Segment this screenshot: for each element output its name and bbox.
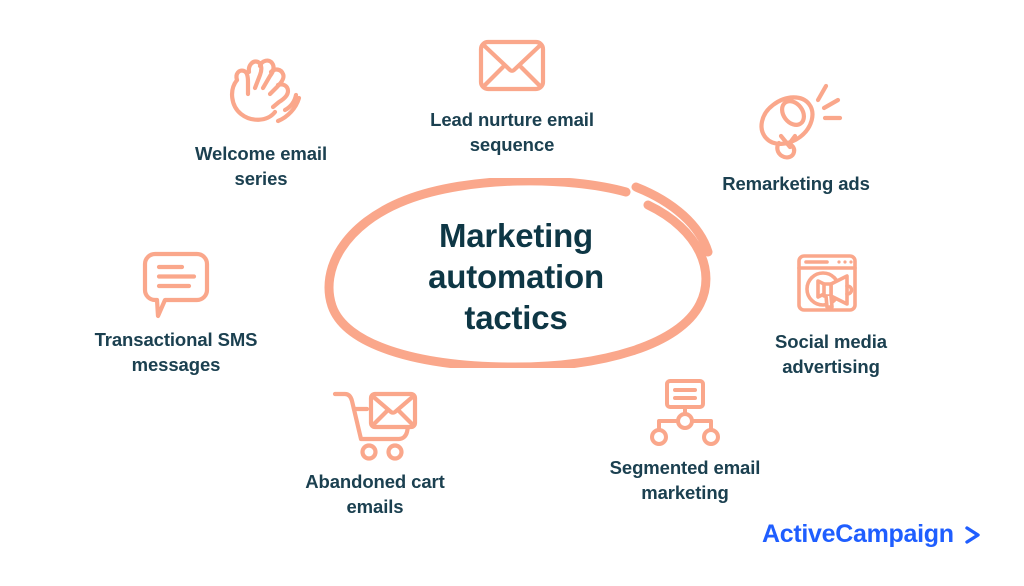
center-title-line-1: Marketing xyxy=(318,216,714,257)
node-social-label: Social media advertising xyxy=(775,330,887,380)
center-title: Marketing automation tactics xyxy=(318,216,714,339)
node-abandoned-cart-emails[interactable]: Abandoned cart emails xyxy=(272,382,478,520)
node-lead-nurture-email-sequence[interactable]: Lead nurture email sequence xyxy=(400,32,624,158)
node-social-media-advertising[interactable]: Social media advertising xyxy=(752,248,910,380)
node-sms-label: Transactional SMS messages xyxy=(95,328,258,378)
infographic-canvas: Marketing automation tactics xyxy=(0,0,1024,586)
node-welcome-email-series[interactable]: Welcome email series xyxy=(155,44,367,192)
node-transactional-sms-messages[interactable]: Transactional SMS messages xyxy=(78,248,274,378)
envelope-icon xyxy=(470,32,554,102)
node-lead-label: Lead nurture email sequence xyxy=(430,108,594,158)
node-remarketing-ads[interactable]: Remarketing ads xyxy=(700,74,892,197)
chevron-right-icon xyxy=(962,523,984,547)
chat-bubble-icon xyxy=(137,248,215,322)
browser-video-megaphone-icon xyxy=(791,248,871,324)
center-title-line-3: tactics xyxy=(318,298,714,339)
node-remarketing-label: Remarketing ads xyxy=(722,172,870,197)
center-title-line-2: automation xyxy=(318,257,714,298)
center-group: Marketing automation tactics xyxy=(318,178,714,368)
node-cart-label: Abandoned cart emails xyxy=(305,470,444,520)
node-segmented-email-marketing[interactable]: Segmented email marketing xyxy=(578,376,792,506)
cart-envelope-icon xyxy=(327,382,423,464)
activecampaign-logo[interactable]: ActiveCampaign xyxy=(762,522,984,547)
brand-name: ActiveCampaign xyxy=(762,522,954,547)
node-welcome-label: Welcome email series xyxy=(195,142,327,192)
segmentation-tree-icon xyxy=(643,376,727,450)
megaphone-icon xyxy=(748,74,844,166)
waving-hand-icon xyxy=(215,44,307,136)
node-segmented-label: Segmented email marketing xyxy=(610,456,761,506)
